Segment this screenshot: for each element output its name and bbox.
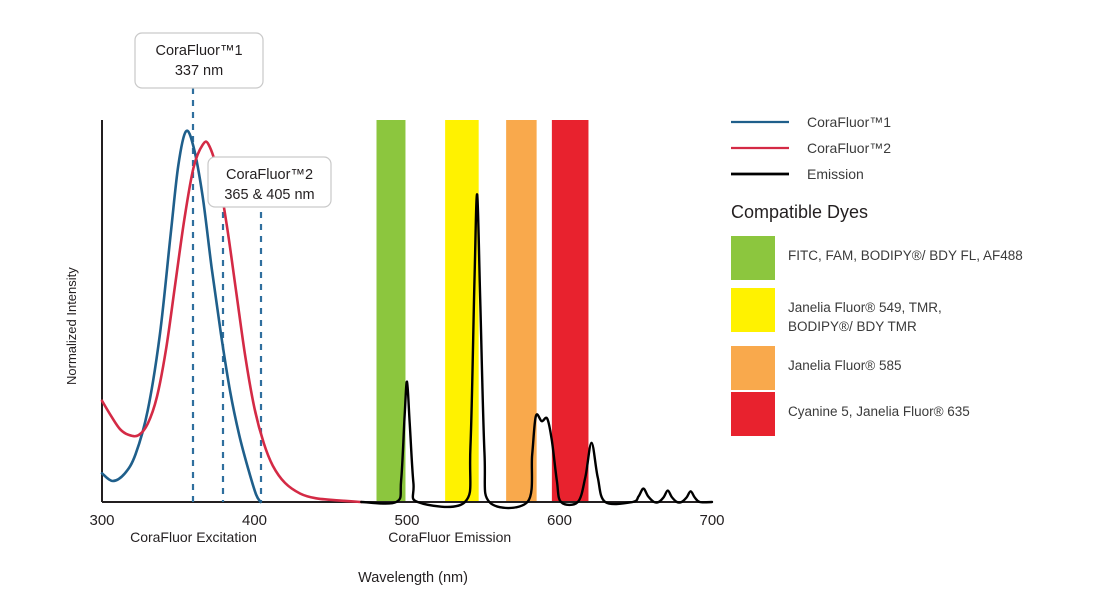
y-axis-title: Normalized Intensity xyxy=(64,267,79,385)
annotation-value-corafluor2: 365 & 405 nm xyxy=(224,187,314,203)
callout-annotations: CoraFluor™1337 nmCoraFluor™2365 & 405 nm xyxy=(135,33,331,207)
dye-swatch-2 xyxy=(731,346,775,390)
dye-swatch-0 xyxy=(731,236,775,280)
x-tick-label-500: 500 xyxy=(394,512,419,529)
dye-label-2-0: Janelia Fluor® 585 xyxy=(788,358,902,373)
annotation-title-corafluor1: CoraFluor™1 xyxy=(155,43,242,59)
x-tick-label-600: 600 xyxy=(547,512,572,529)
sub-axis-label-emission: CoraFluor Emission xyxy=(388,529,511,545)
dye-bands xyxy=(377,120,589,502)
legend-label-2: Emission xyxy=(807,166,864,182)
x-axis-title: Wavelength (nm) xyxy=(358,570,468,586)
x-tick-label-300: 300 xyxy=(89,512,114,529)
dye-label-1-1: BODIPY®/ BDY TMR xyxy=(788,319,917,334)
x-axis-ticks: 300400500600700 xyxy=(89,512,724,529)
sub-axis-labels: CoraFluor ExcitationCoraFluor Emission xyxy=(130,529,511,545)
dye-band-cyanine5 xyxy=(552,120,589,502)
annotation-box-corafluor1 xyxy=(135,33,263,88)
x-tick-label-700: 700 xyxy=(699,512,724,529)
dye-legend-item-1: Janelia Fluor® 549, TMR,BODIPY®/ BDY TMR xyxy=(731,288,942,334)
spectra-chart: 300400500600700 CoraFluor ExcitationCora… xyxy=(0,0,1110,612)
dye-legend-item-0: FITC, FAM, BODIPY®/ BDY FL, AF488 xyxy=(731,236,1023,280)
dye-label-3-0: Cyanine 5, Janelia Fluor® 635 xyxy=(788,404,970,419)
legend-line-item-2: Emission xyxy=(731,166,864,182)
annotation-corafluor2: CoraFluor™2365 & 405 nm xyxy=(208,157,331,207)
dye-label-1-0: Janelia Fluor® 549, TMR, xyxy=(788,300,942,315)
marker-dashed-lines xyxy=(193,88,261,502)
legend-line-item-0: CoraFluor™1 xyxy=(731,114,891,130)
legend-label-0: CoraFluor™1 xyxy=(807,114,891,130)
sub-axis-label-excitation: CoraFluor Excitation xyxy=(130,529,257,545)
legend: CoraFluor™1CoraFluor™2EmissionCompatible… xyxy=(731,114,1023,436)
dye-legend-item-3: Cyanine 5, Janelia Fluor® 635 xyxy=(731,392,970,436)
dye-swatch-3 xyxy=(731,392,775,436)
dye-label-0-0: FITC, FAM, BODIPY®/ BDY FL, AF488 xyxy=(788,248,1023,263)
x-tick-label-400: 400 xyxy=(242,512,267,529)
dye-legend-item-2: Janelia Fluor® 585 xyxy=(731,346,902,390)
annotation-value-corafluor1: 337 nm xyxy=(175,63,223,79)
annotation-title-corafluor2: CoraFluor™2 xyxy=(226,167,313,183)
dye-band-fitc xyxy=(377,120,406,502)
legend-label-1: CoraFluor™2 xyxy=(807,140,891,156)
dye-swatch-1 xyxy=(731,288,775,332)
annotation-corafluor1: CoraFluor™1337 nm xyxy=(135,33,263,88)
legend-heading: Compatible Dyes xyxy=(731,202,868,222)
legend-line-item-1: CoraFluor™2 xyxy=(731,140,891,156)
